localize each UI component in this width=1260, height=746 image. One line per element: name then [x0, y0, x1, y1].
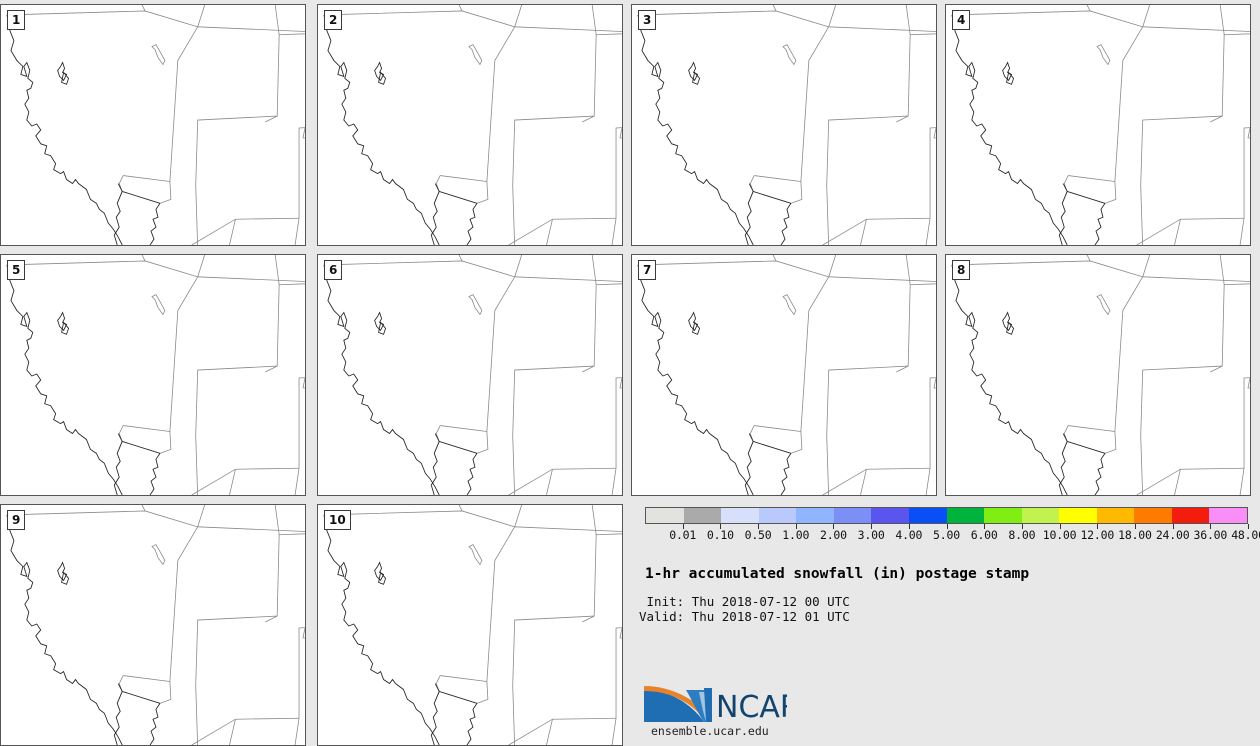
map-outline-5 [1, 255, 305, 495]
init-time-label: Init: Thu 2018-07-12 00 UTC [639, 594, 850, 609]
colorbar-tick-label-3.00: 3.00 [858, 528, 885, 542]
map-outline-10 [318, 505, 622, 745]
colorbar-tick-label-4.00: 4.00 [895, 528, 922, 542]
map-outline-6 [318, 255, 622, 495]
panel-label-8: 8 [952, 260, 970, 280]
ncar-logo-block[interactable]: NCAR ensemble.ucar.edu [642, 680, 942, 740]
ncar-url-label[interactable]: ensemble.ucar.edu [651, 724, 769, 738]
colorbar-tick-label-5.00: 5.00 [933, 528, 960, 542]
panel-label-10: 10 [324, 510, 351, 530]
legend-area: 0.010.100.501.002.003.004.005.006.008.00… [628, 498, 1260, 746]
colorbar-swatch-yellow [1059, 508, 1097, 523]
map-outline-9 [1, 505, 305, 745]
colorbar-tick-label-48.00: 48.00 [1231, 528, 1260, 542]
panel-label-1: 1 [7, 10, 25, 30]
colorbar-swatch-red [1172, 508, 1210, 523]
colorbar-swatch-blue [909, 508, 947, 523]
colorbar-swatch-amber [1097, 508, 1135, 523]
colorbar-tick-label-0.01: 0.01 [669, 528, 696, 542]
panel-label-9: 9 [7, 510, 25, 530]
panel-label-6: 6 [324, 260, 342, 280]
map-outline-4 [946, 5, 1250, 245]
map-panel-3[interactable]: 3 [631, 4, 937, 246]
map-panel-9[interactable]: 9 [0, 504, 306, 746]
legend-title: 1-hr accumulated snowfall (in) postage s… [645, 566, 1029, 582]
colorbar-tick-label-12.00: 12.00 [1080, 528, 1114, 542]
colorbar-swatch-orange [1134, 508, 1172, 523]
map-outline-8 [946, 255, 1250, 495]
panel-label-7: 7 [638, 260, 656, 280]
map-panel-10[interactable]: 10 [317, 504, 623, 746]
figure-canvas: 1 [0, 0, 1260, 746]
map-panel-1[interactable]: 1 [0, 4, 306, 246]
valid-time-label: Valid: Thu 2018-07-12 01 UTC [639, 609, 850, 624]
map-panel-5[interactable]: 5 [0, 254, 306, 496]
colorbar-swatch-light-gray [646, 508, 684, 523]
colorbar-swatch-magenta [1209, 508, 1247, 523]
panel-label-4: 4 [952, 10, 970, 30]
colorbar-swatch-pale-blue [759, 508, 797, 523]
colorbar-tick-label-6.00: 6.00 [971, 528, 998, 542]
colorbar-tick-label-18.00: 18.00 [1118, 528, 1152, 542]
colorbar-tick-label-24.00: 24.00 [1156, 528, 1190, 542]
colorbar-swatch-light-blue [796, 508, 834, 523]
colorbar[interactable] [645, 507, 1248, 524]
colorbar-swatch-palest-blue [721, 508, 759, 523]
panel-label-3: 3 [638, 10, 656, 30]
colorbar-tick-label-36.00: 36.00 [1194, 528, 1228, 542]
map-outline-2 [318, 5, 622, 245]
colorbar-tick-label-2.00: 2.00 [820, 528, 847, 542]
map-outline-3 [632, 5, 936, 245]
colorbar-tick-labels: 0.010.100.501.002.003.004.005.006.008.00… [645, 528, 1248, 542]
colorbar-swatch-green [947, 508, 985, 523]
colorbar-swatch-bright-green [984, 508, 1022, 523]
colorbar-tick-label-10.00: 10.00 [1043, 528, 1077, 542]
colorbar-swatch-blue-violet [871, 508, 909, 523]
panel-label-5: 5 [7, 260, 25, 280]
map-outline-7 [632, 255, 936, 495]
map-panel-7[interactable]: 7 [631, 254, 937, 496]
colorbar-tick-label-0.50: 0.50 [745, 528, 772, 542]
map-panel-8[interactable]: 8 [945, 254, 1251, 496]
map-panel-2[interactable]: 2 [317, 4, 623, 246]
colorbar-swatch-gray [684, 508, 722, 523]
colorbar-tick-label-8.00: 8.00 [1008, 528, 1035, 542]
map-outline-1 [1, 5, 305, 245]
colorbar-swatch-yellow-green [1022, 508, 1060, 523]
ncar-logo-icon: NCAR [642, 680, 787, 725]
panel-label-2: 2 [324, 10, 342, 30]
map-panel-4[interactable]: 4 [945, 4, 1251, 246]
colorbar-swatch-periwinkle [834, 508, 872, 523]
colorbar-tick-label-1.00: 1.00 [782, 528, 809, 542]
colorbar-tick-label-0.10: 0.10 [707, 528, 734, 542]
map-panel-6[interactable]: 6 [317, 254, 623, 496]
ncar-logo-text: NCAR [716, 690, 787, 725]
